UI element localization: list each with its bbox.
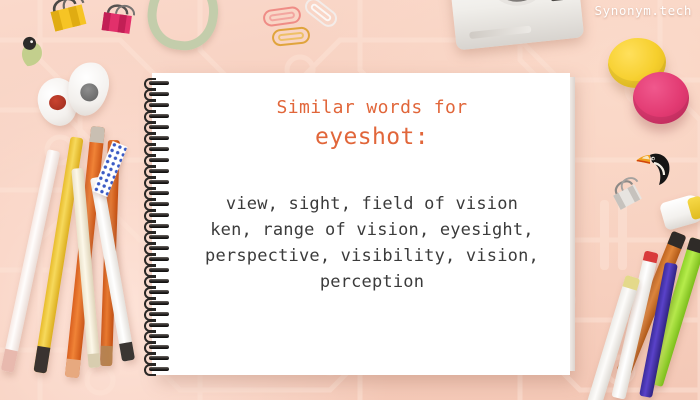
paper-clip-amber-icon xyxy=(271,26,311,47)
desk-scene: Similar words for eyeshot: view, sight, … xyxy=(0,0,700,400)
camera-lens-icon xyxy=(482,0,552,9)
green-tape-loop-icon xyxy=(143,0,223,55)
binder-clip-pink-icon xyxy=(96,0,139,42)
notebook-spiral-binding xyxy=(144,77,174,371)
toucan-sticker-icon xyxy=(634,150,680,186)
bird-eraser-icon xyxy=(14,32,50,69)
paper-clip-pink-icon xyxy=(262,5,302,27)
camera-icon xyxy=(448,0,584,50)
camera-grip-icon xyxy=(469,26,531,39)
notebook-page: Similar words for eyeshot: view, sight, … xyxy=(152,73,570,375)
synonyms-list: view, sight, field of vision ken, range … xyxy=(192,191,552,295)
notebook-content: Similar words for eyeshot: view, sight, … xyxy=(192,95,552,295)
camera-flash-icon xyxy=(550,0,564,1)
macaron-pink-icon xyxy=(633,72,689,124)
brand-logo[interactable]: Synonym.tech xyxy=(594,3,692,19)
paper-clip-white-icon xyxy=(302,0,341,30)
notebook-page-edge xyxy=(570,77,575,371)
page-title-word: eyeshot: xyxy=(192,121,552,153)
page-title-prefix: Similar words for xyxy=(192,95,552,121)
glue-bottle-icon xyxy=(659,193,700,231)
binder-clip-yellow-icon xyxy=(41,0,94,43)
